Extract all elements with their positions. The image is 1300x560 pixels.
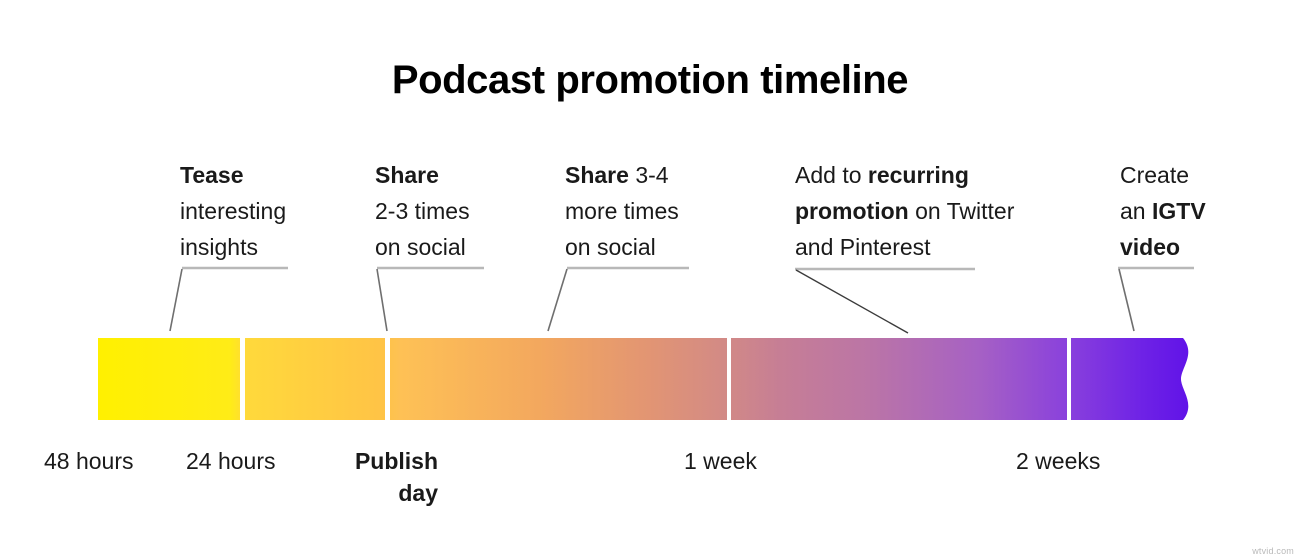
timeline-bar-svg — [98, 338, 1198, 420]
annotation-line-2: an IGTV — [1120, 193, 1260, 229]
page-title: Podcast promotion timeline — [0, 58, 1300, 102]
annotation-emphasis: Share — [375, 162, 439, 188]
annotation-share-2-3-times: Share 2-3 times on social — [375, 157, 535, 265]
annotation-line-1: Create — [1120, 157, 1260, 193]
annotation-share-3-4-more-times: Share 3-4 more times on social — [565, 157, 740, 265]
leader-line — [377, 269, 387, 331]
annotation-recurring-promotion: Add to recurring promotion on Twitter an… — [795, 157, 1095, 265]
annotation-emphasis-2: promotion — [795, 198, 909, 224]
annotation-line-1: Add to recurring — [795, 157, 1095, 193]
axis-label-publish-day-line-1: Publish — [340, 445, 438, 477]
annotation-emphasis: IGTV — [1152, 198, 1206, 224]
annotation-line-3: and Pinterest — [795, 229, 1095, 265]
connector-create-igtv-video — [1118, 268, 1194, 331]
axis-label-1-week: 1 week — [684, 445, 757, 477]
podcast-promotion-timeline-infographic: Podcast promotion timeline Tease interes… — [0, 0, 1300, 560]
annotation-line-2: promotion on Twitter — [795, 193, 1095, 229]
annotation-line-1: Share 3-4 — [565, 157, 740, 193]
annotation-line-2: more times — [565, 193, 740, 229]
leader-line — [1119, 269, 1134, 331]
annotation-emphasis: Share — [565, 162, 629, 188]
annotation-line-2: 2-3 times — [375, 193, 535, 229]
annotation-line-3: on social — [565, 229, 740, 265]
axis-label-publish-day-line-2: day — [340, 477, 438, 509]
annotation-line-1-rest: 3-4 — [629, 162, 669, 188]
connector-share-3-4-more-times — [548, 268, 689, 331]
connector-recurring-promotion — [795, 269, 975, 333]
annotation-line-3: video — [1120, 229, 1260, 265]
annotation-line-3: insights — [180, 229, 340, 265]
annotation-tease-insights: Tease interesting insights — [180, 157, 340, 265]
timeline-bar — [98, 338, 1198, 420]
connector-tease-insights — [170, 268, 288, 331]
axis-label-publish-day: Publish day — [340, 445, 438, 509]
annotation-line-1: Share — [375, 157, 535, 193]
leader-line — [548, 269, 567, 331]
leader-line — [796, 270, 908, 333]
axis-label-48-hours: 48 hours — [44, 445, 134, 477]
annotation-emphasis-2: video — [1120, 234, 1180, 260]
annotation-emphasis: Tease — [180, 162, 244, 188]
annotation-create-igtv-video: Create an IGTV video — [1120, 157, 1260, 265]
annotation-line-2: interesting — [180, 193, 340, 229]
axis-label-2-weeks: 2 weeks — [1016, 445, 1100, 477]
connector-share-2-3-times — [377, 268, 484, 331]
annotation-emphasis: recurring — [868, 162, 969, 188]
annotation-line-1: Tease — [180, 157, 340, 193]
leader-line — [170, 269, 182, 331]
axis-label-24-hours: 24 hours — [186, 445, 276, 477]
watermark: wtvid.com — [1252, 546, 1294, 556]
annotation-line-3: on social — [375, 229, 535, 265]
annotation-line-2-plain: an — [1120, 198, 1152, 224]
annotation-line-1-plain: Add to — [795, 162, 868, 188]
annotation-line-2-rest: on Twitter — [909, 198, 1015, 224]
